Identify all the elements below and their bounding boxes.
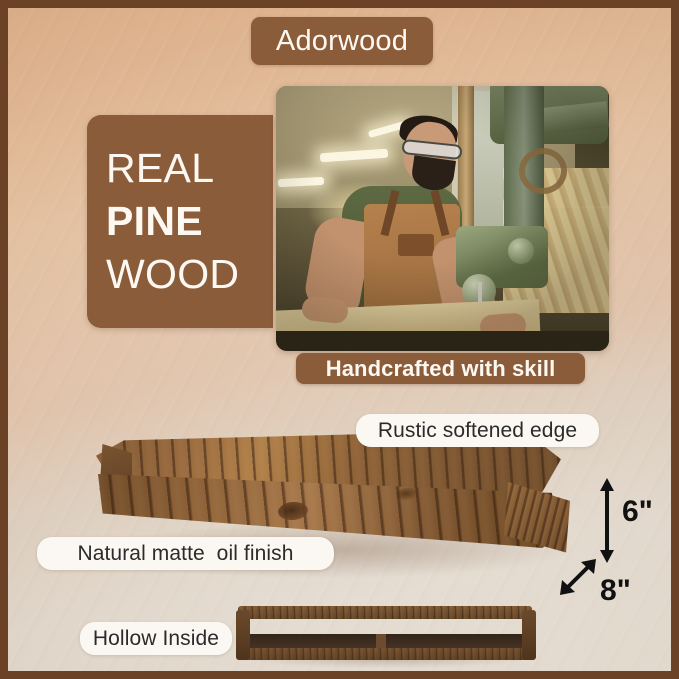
hollow-shelf-left-end	[236, 610, 250, 660]
feature-pill-oil-finish: Natural matte oil finish	[37, 537, 334, 570]
hollow-shelf-bottom	[240, 648, 530, 660]
feature-pill-rustic-edge: Rustic softened edge	[356, 414, 599, 447]
brand-name: Adorwood	[276, 27, 408, 56]
brand-badge: Adorwood	[251, 17, 433, 65]
headline-panel: REAL PINE WOOD	[87, 115, 273, 328]
headline-line-2: PINE	[106, 195, 273, 248]
feature-label: Hollow Inside	[93, 627, 219, 651]
hollow-shelf-front	[244, 617, 526, 634]
photo-caption-text: Handcrafted with skill	[326, 356, 556, 382]
feature-pill-hollow-inside: Hollow Inside	[80, 622, 232, 655]
feature-label: Rustic softened edge	[378, 419, 577, 443]
photo-vignette	[276, 86, 609, 351]
headline-line-1: REAL	[106, 142, 273, 195]
depth-dimension-arrow-icon	[554, 553, 602, 601]
headline-line-3: WOOD	[106, 248, 273, 301]
height-dimension-label: 6"	[622, 495, 653, 529]
depth-dimension-label: 8"	[600, 574, 631, 608]
product-infographic: Adorwood REAL PINE WOOD	[0, 0, 679, 679]
hollow-shelf-right-end	[522, 610, 536, 660]
feature-label: Natural matte oil finish	[77, 542, 293, 566]
height-dimension-arrow-icon	[596, 478, 618, 563]
photo-caption: Handcrafted with skill	[296, 353, 585, 384]
workshop-scene	[276, 86, 609, 351]
workshop-photo	[276, 86, 609, 351]
hollow-shelf-product	[236, 604, 536, 666]
